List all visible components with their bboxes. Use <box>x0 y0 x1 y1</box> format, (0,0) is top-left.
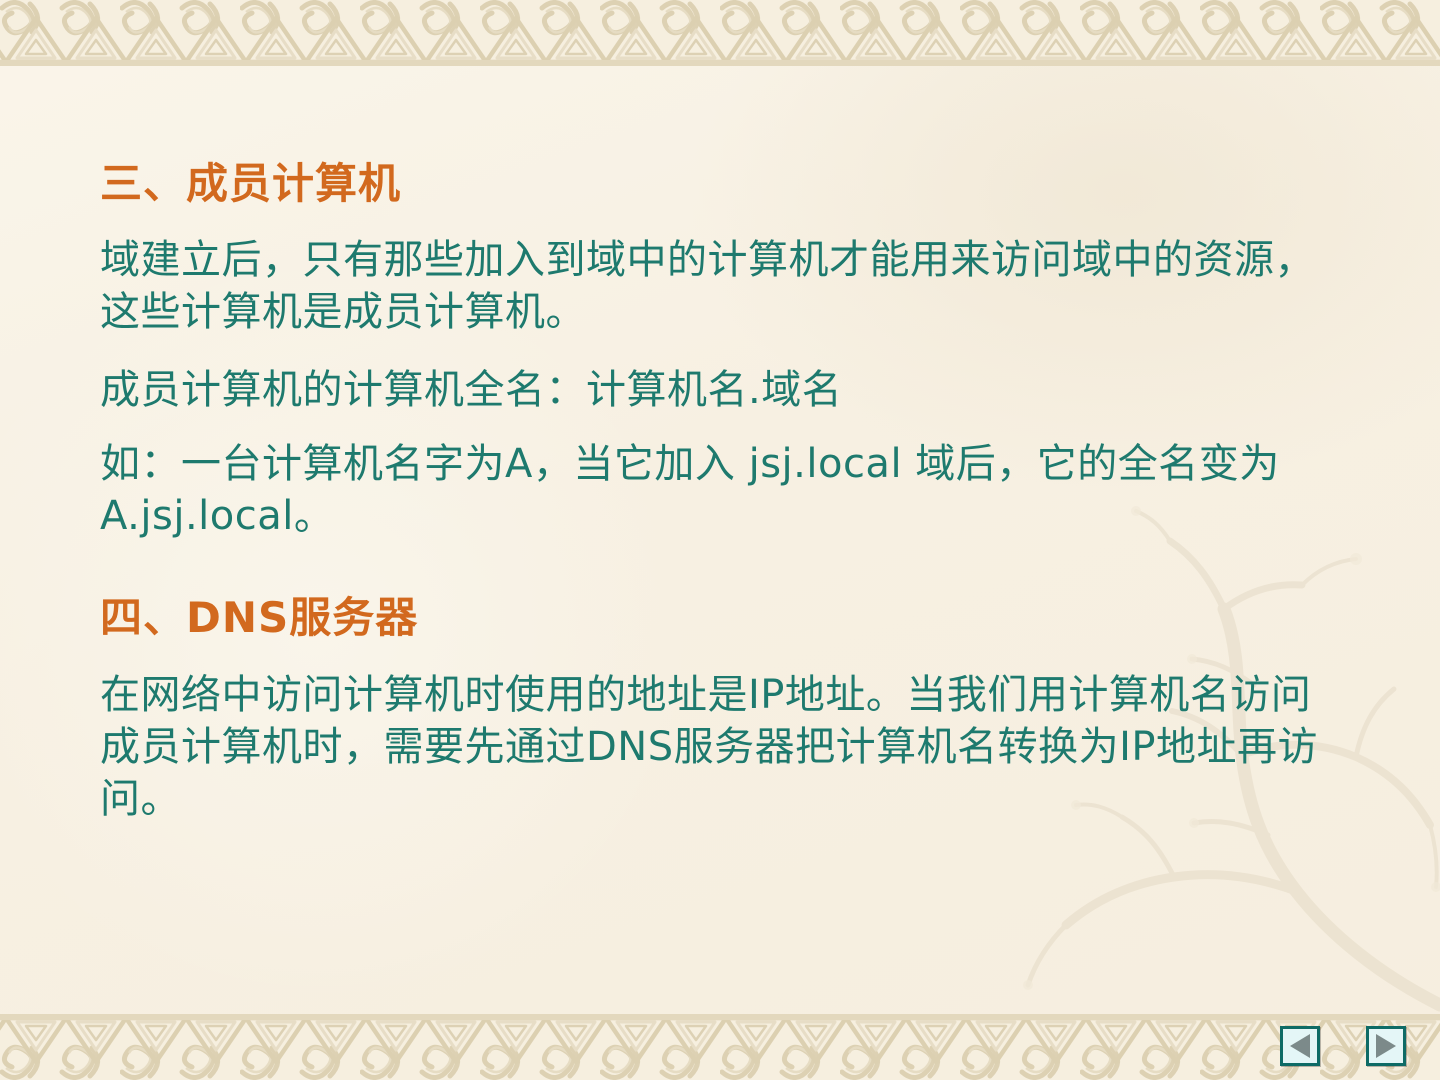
celtic-knot-triangle-border-icon <box>0 0 1440 66</box>
paragraph-name-example: 如：一台计算机名字为A，当它加入 jsj.local 域后，它的全名变为 A.j… <box>100 438 1330 542</box>
paragraph-dns-resolution: 在网络中访问计算机时使用的地址是IP地址。当我们用计算机名访问成员计算机时，需要… <box>100 669 1330 825</box>
top-decorative-border <box>0 0 1440 66</box>
presentation-slide: 三、成员计算机 域建立后，只有那些加入到域中的计算机才能用来访问域中的资源，这些… <box>0 0 1440 1080</box>
section-heading-dns-server: 四、DNS服务器 <box>100 594 1340 642</box>
section-heading-member-computer: 三、成员计算机 <box>100 160 1340 208</box>
slide-content-body: 三、成员计算机 域建立后，只有那些加入到域中的计算机才能用来访问域中的资源，这些… <box>100 160 1340 825</box>
paragraph-full-computer-name: 成员计算机的计算机全名：计算机名.域名 <box>100 364 1330 416</box>
next-slide-button[interactable] <box>1366 1026 1406 1066</box>
previous-slide-button[interactable] <box>1280 1026 1320 1066</box>
paragraph-domain-member-definition: 域建立后，只有那些加入到域中的计算机才能用来访问域中的资源，这些计算机是成员计算… <box>100 234 1330 338</box>
triangle-right-icon <box>1376 1034 1396 1058</box>
slide-navigation <box>1280 1026 1406 1066</box>
celtic-knot-triangle-border-icon <box>0 1014 1440 1080</box>
triangle-left-icon <box>1290 1034 1310 1058</box>
bottom-decorative-border <box>0 1014 1440 1080</box>
